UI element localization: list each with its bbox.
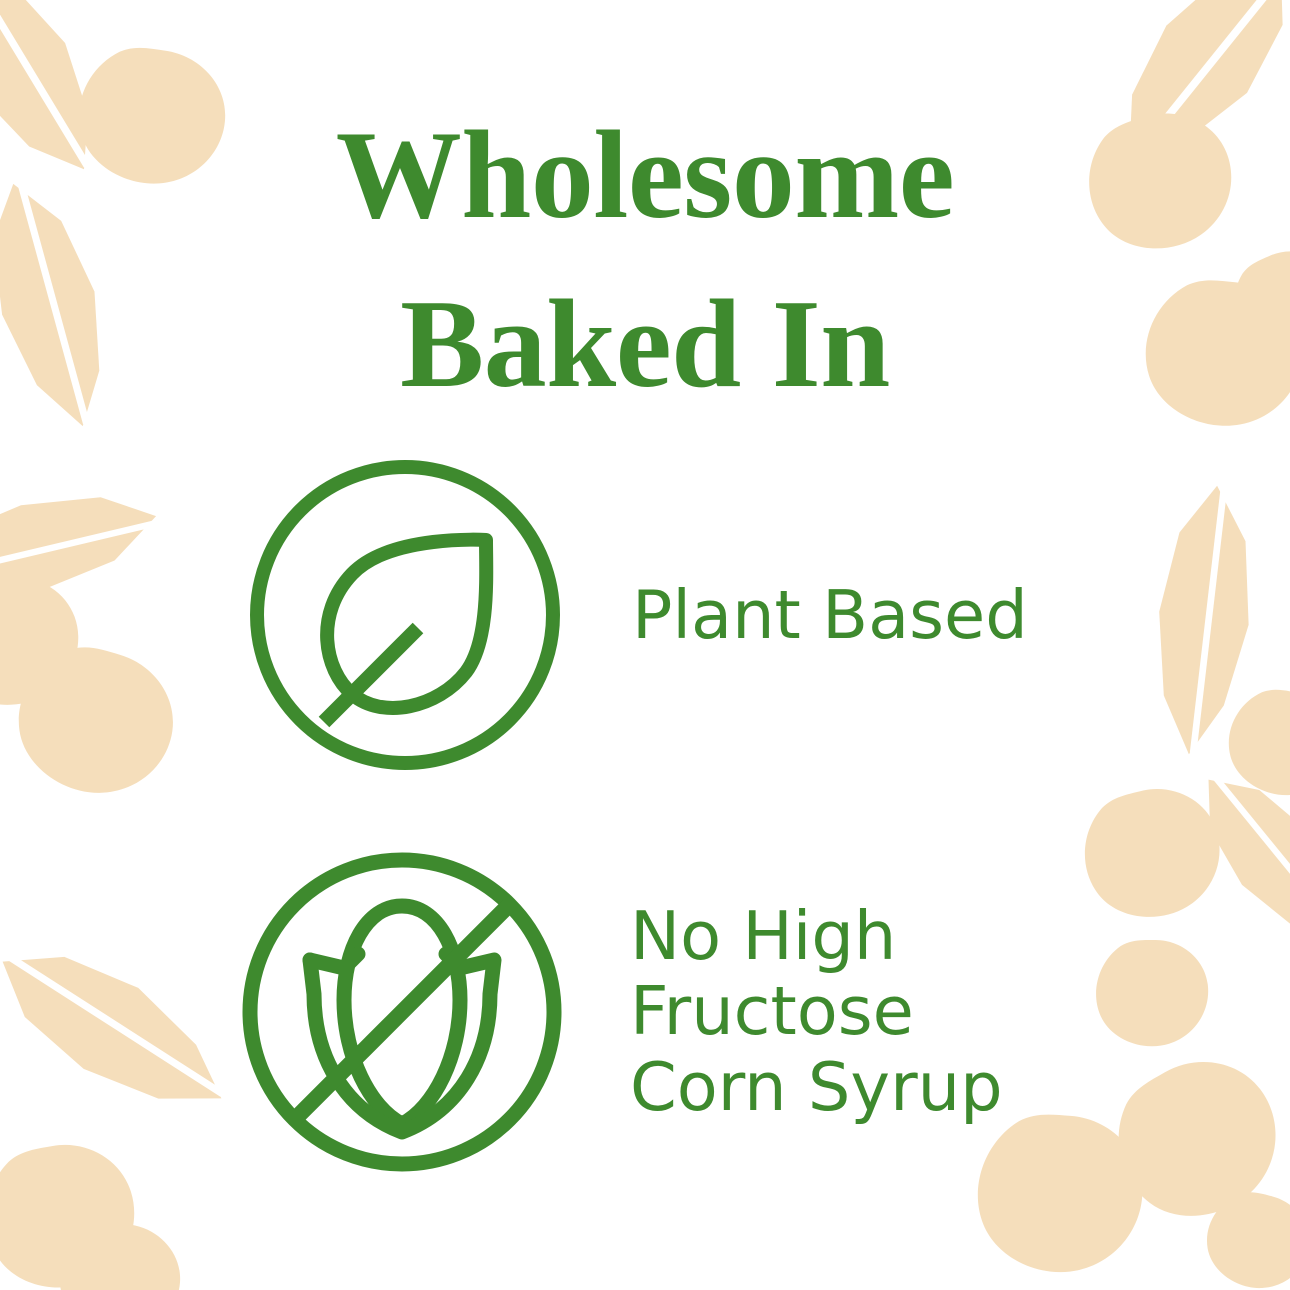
page-title: Wholesome Baked In (0, 92, 1290, 430)
no-corn-syrup-icon (232, 842, 572, 1182)
feature-label-plant-based: Plant Based (632, 582, 1028, 649)
leaf-icon-ring (257, 467, 553, 763)
feature-plant-based: Plant Based (240, 450, 1028, 780)
promo-graphic-canvas: Wholesome Baked In Plant Based (0, 0, 1290, 1290)
content-layer: Wholesome Baked In Plant Based (0, 0, 1290, 1290)
leaf-in-circle-icon (240, 450, 570, 780)
feature-label-no-hfcs: No High Fructose Corn Syrup (630, 899, 1003, 1124)
feature-no-hfcs: No High Fructose Corn Syrup (232, 842, 1003, 1182)
headline-line-1: Wholesome (0, 92, 1290, 261)
no-corn-icon-slash (295, 905, 509, 1119)
no-corn-icon-husk-notch (310, 954, 358, 968)
leaf-icon-body (327, 540, 486, 708)
headline-line-2: Baked In (0, 261, 1290, 430)
